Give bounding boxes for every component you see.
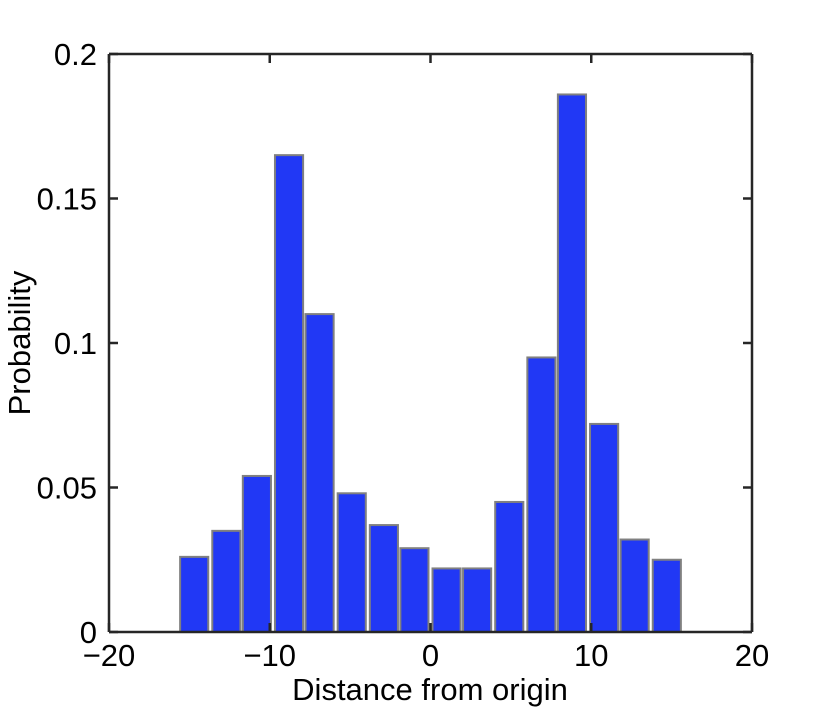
bar (370, 525, 398, 632)
x-tick-label: −10 (243, 638, 296, 673)
x-tick-label: 10 (574, 638, 608, 673)
bar (275, 155, 303, 632)
bar (495, 502, 523, 632)
bar (558, 94, 586, 632)
bar (590, 424, 618, 632)
y-tick-label: 0.05 (37, 471, 97, 506)
y-tick-label: 0.2 (54, 37, 97, 72)
y-tick-label: 0.1 (54, 326, 97, 361)
y-axis-title: Probability (2, 270, 37, 415)
y-tick-label: 0.15 (37, 182, 97, 217)
x-tick-label: 20 (735, 638, 769, 673)
bar (400, 548, 428, 632)
chart-figure: −20−1001020 00.050.10.150.2 Distance fro… (0, 0, 830, 712)
bar (527, 357, 555, 632)
bar (653, 560, 681, 632)
bar (433, 568, 461, 632)
bar (338, 493, 366, 632)
x-tick-label: 0 (422, 638, 439, 673)
bar (621, 540, 649, 632)
bar (306, 314, 334, 632)
x-axis-title: Distance from origin (292, 672, 568, 707)
bar (180, 557, 208, 632)
bar (212, 531, 240, 632)
probability-histogram: −20−1001020 00.050.10.150.2 Distance fro… (0, 0, 830, 712)
bar (243, 476, 271, 632)
bar (463, 568, 491, 632)
y-tick-label: 0 (80, 615, 97, 650)
